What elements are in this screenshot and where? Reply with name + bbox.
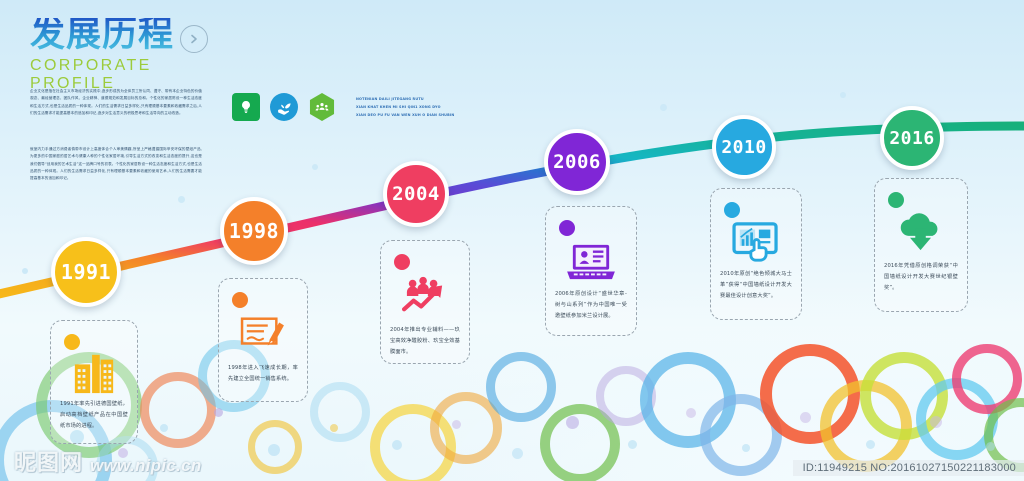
milestone-card-2006[interactable]: 2006年原创设计“盛世华章-树与山系列”作为中国唯一受邀壁纸参加米兰设计展。 xyxy=(545,206,637,336)
people-group-icon xyxy=(308,93,336,121)
timeline-node-year: 1991 xyxy=(61,260,111,284)
timeline-node-year: 2004 xyxy=(392,183,440,205)
decor-dot xyxy=(512,448,523,459)
laptop-design-icon xyxy=(546,241,636,283)
decor-dot xyxy=(628,440,637,449)
milestone-card-1991[interactable]: 1991年率先引进德国壁纸，启动高档壁纸产品在中国壁纸市场的进程。 xyxy=(50,320,138,444)
card-accent-dot xyxy=(888,192,904,208)
decor-dot xyxy=(392,440,402,450)
milestone-card-2004[interactable]: 2004年推出专业辅料——玖宝高效净醛胶粉、玖宝全效基膜面市。 xyxy=(380,240,470,364)
decor-dot xyxy=(330,424,338,432)
growth-people-arrow-icon xyxy=(381,275,469,315)
decor-dot xyxy=(930,416,942,428)
decor-ring xyxy=(486,352,556,422)
milestone-card-2016[interactable]: 2016年凭借原创格调荣获“中国墙纸设计开发大赛世纪银壁奖”。 xyxy=(874,178,968,312)
milestone-text: 1998年进入飞速成长期，率先建立全国统一销售系统。 xyxy=(228,363,298,385)
timeline-node-1998[interactable]: 1998 xyxy=(220,197,288,265)
card-accent-dot xyxy=(394,254,410,270)
title-row: 发展历程 xyxy=(30,18,230,53)
timeline-node-2006[interactable]: 2006 xyxy=(544,129,610,195)
decor-dot xyxy=(800,412,811,423)
decor-dot xyxy=(840,92,846,98)
watermark-id: ID:11949215 NO:20161027150221183000 xyxy=(793,460,1024,476)
timeline-node-2016[interactable]: 2016 xyxy=(880,106,944,170)
milestone-card-2010[interactable]: 2010年原创“绝色倾城大马士革”获得“中国墙纸设计开发大赛最佳设计创意大奖”。 xyxy=(710,188,802,320)
timeline-node-year: 2006 xyxy=(553,151,601,173)
watermark-site-name: 昵图网 xyxy=(14,445,83,477)
decor-dot xyxy=(22,268,28,274)
page-title: 发展历程 xyxy=(30,18,174,53)
decor-ring xyxy=(310,382,370,442)
poster-canvas: 发展历程 CORPORATE PROFILE 企业文化是指在社会主义市场经济的实… xyxy=(0,0,1024,481)
card-accent-dot xyxy=(64,334,80,350)
milestone-card-1998[interactable]: 1998年进入飞速成长期，率先建立全国统一销售系统。 xyxy=(218,278,308,402)
decor-dot xyxy=(986,442,995,451)
tablet-chart-hand-icon xyxy=(711,221,801,263)
milestone-text: 2006年原创设计“盛世华章-树与山系列”作为中国唯一受邀壁纸参加米兰设计展。 xyxy=(555,289,627,323)
buildings-icon xyxy=(51,351,137,395)
watermark-site-url: www.nipic.cn xyxy=(90,456,202,476)
decor-dot xyxy=(160,424,168,432)
chevron-right-icon[interactable] xyxy=(180,25,208,53)
decor-dot xyxy=(660,104,667,111)
hand-leaf-icon xyxy=(270,93,298,121)
timeline-node-2004[interactable]: 2004 xyxy=(383,161,449,227)
card-accent-dot xyxy=(232,292,248,308)
contract-signature-icon xyxy=(219,313,307,353)
timeline-node-year: 2016 xyxy=(889,128,934,149)
decor-dot xyxy=(742,444,750,452)
timeline-node-year: 1998 xyxy=(229,219,279,243)
intro-paragraph-2: 就室内力手通过方消费者慎带市设计上高度体合个人审美情趣,所呈上严格遵循国际甲安环… xyxy=(30,146,202,183)
decor-dot xyxy=(214,408,223,417)
card-accent-dot xyxy=(724,202,740,218)
milestone-text: 2004年推出专业辅料——玖宝高效净醛胶粉、玖宝全效基膜面市。 xyxy=(390,325,460,359)
decor-dot xyxy=(866,440,875,449)
page-header: 发展历程 CORPORATE PROFILE xyxy=(30,18,230,93)
cloud-download-icon xyxy=(875,211,967,253)
milestone-text: 1991年率先引进德国壁纸，启动高档壁纸产品在中国壁纸市场的进程。 xyxy=(60,399,128,433)
decor-dot xyxy=(452,420,461,429)
intro-paragraph-1: 企业文化是指在社会主义市场经济的实践中,逐步形成的为全体员工所认同、遵守、带有本… xyxy=(30,88,202,117)
decor-dot xyxy=(268,444,280,456)
feature-icon-strip: NOTENIAN DAILI JITEGANG RUTU XIAN KHAT K… xyxy=(232,93,454,121)
timeline-node-year: 2010 xyxy=(721,137,766,158)
decor-dot xyxy=(686,408,696,418)
card-accent-dot xyxy=(559,220,575,236)
lightbulb-icon xyxy=(232,93,260,121)
feature-caption: NOTENIAN DAILI JITEGANG RUTU XIAN KHAT K… xyxy=(356,95,454,120)
decor-dot xyxy=(312,164,318,170)
timeline-node-1991[interactable]: 1991 xyxy=(51,237,121,307)
timeline-node-2010[interactable]: 2010 xyxy=(712,115,776,179)
watermark-left: 昵图网 www.nipic.cn xyxy=(14,445,202,477)
milestone-text: 2016年凭借原创格调荣获“中国墙纸设计开发大赛世纪银壁奖”。 xyxy=(884,261,958,295)
decor-dot xyxy=(178,196,185,203)
milestone-text: 2010年原创“绝色倾城大马士革”获得“中国墙纸设计开发大赛最佳设计创意大奖”。 xyxy=(720,269,792,303)
decor-dot xyxy=(566,416,579,429)
